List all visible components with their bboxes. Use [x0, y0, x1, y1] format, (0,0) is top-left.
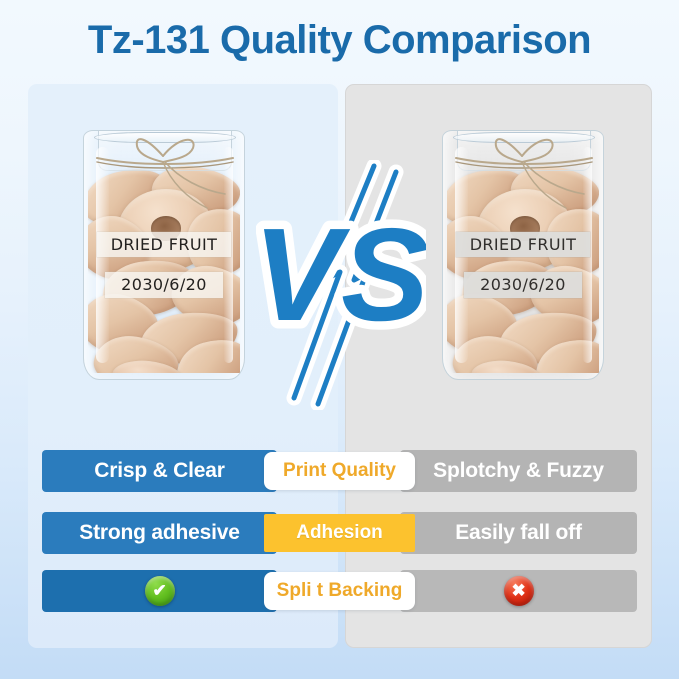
comparison-row-split-backing: ✔ ✖ Spli t Backing [0, 570, 679, 612]
jar-rim-left [94, 132, 236, 143]
jar-rim-right [453, 132, 595, 143]
feature-label: Print Quality [283, 460, 396, 482]
feature-chip-print-quality: Print Quality [264, 452, 415, 490]
feature-chip-split-backing: Spli t Backing [264, 572, 415, 610]
feature-label: Spli t Backing [277, 580, 403, 602]
good-value-label: Strong adhesive [79, 521, 239, 545]
vs-text: VS [256, 201, 426, 348]
vs-badge: VS VS [256, 160, 426, 410]
good-value-adhesion: Strong adhesive [42, 512, 277, 554]
feature-label: Adhesion [296, 522, 383, 544]
feature-chip-adhesion: Adhesion [264, 514, 415, 552]
cross-icon: ✖ [504, 576, 534, 606]
jar-label-name-right: DRIED FRUIT [456, 232, 590, 257]
bad-value-adhesion: Easily fall off [400, 512, 637, 554]
good-value-print-quality: Crisp & Clear [42, 450, 277, 492]
check-icon: ✔ [145, 576, 175, 606]
good-value-split-backing: ✔ [42, 570, 277, 612]
page-title: Tz-131 Quality Comparison [0, 18, 679, 63]
product-image-good: DRIED FRUIT 2030/6/20 [75, 112, 253, 384]
jar-label-name-left: DRIED FRUIT [97, 232, 231, 257]
jar-label-date-left: 2030/6/20 [105, 272, 223, 298]
dried-fruit-contents-left [88, 165, 240, 373]
bad-value-label: Easily fall off [455, 521, 582, 545]
good-value-label: Crisp & Clear [94, 459, 224, 483]
comparison-row-adhesion: Strong adhesive Easily fall off Adhesion [0, 512, 679, 554]
dried-fruit-contents-right [447, 165, 599, 373]
bad-value-label: Splotchy & Fuzzy [433, 459, 604, 483]
product-image-bad: DRIED FRUIT 2030/6/20 [434, 112, 612, 384]
comparison-row-print-quality: Crisp & Clear Splotchy & Fuzzy Print Qua… [0, 450, 679, 492]
bad-value-print-quality: Splotchy & Fuzzy [400, 450, 637, 492]
bad-value-split-backing: ✖ [400, 570, 637, 612]
jar-label-date-right: 2030/6/20 [464, 272, 582, 298]
